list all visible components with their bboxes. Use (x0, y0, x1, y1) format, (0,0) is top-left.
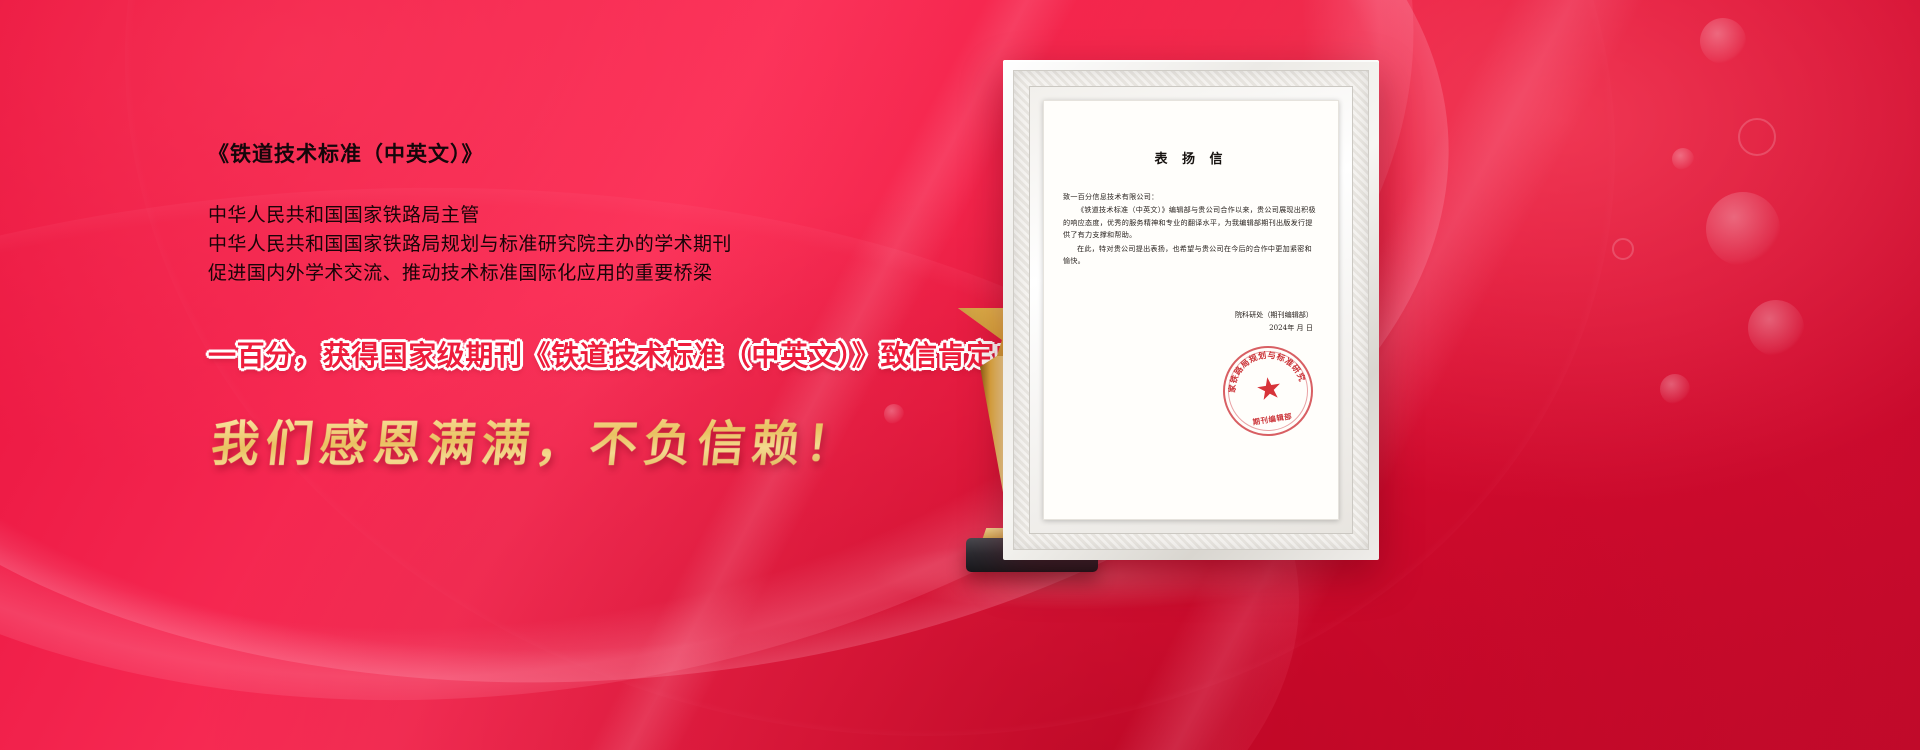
certificate-signature: 院科研处（期刊编辑部） 2024年 月 日 (1063, 309, 1319, 334)
certificate-paragraph-2: 在此，特对贵公司提出表扬，也希望与贵公司在今后的合作中更加紧密和愉快。 (1063, 243, 1319, 268)
signature-organization: 院科研处（期刊编辑部） (1063, 309, 1313, 322)
certificate-salutation: 致一百分信息技术有限公司： (1063, 191, 1319, 203)
journal-title: 《铁道技术标准（中英文）》 (208, 142, 1028, 167)
left-text-block: 《铁道技术标准（中英文）》 中华人民共和国国家铁路局主管 中华人民共和国国家铁路… (208, 142, 1028, 288)
journal-subtitle-line-2: 中华人民共和国国家铁路局规划与标准研究院主办的学术期刊 (208, 230, 1028, 259)
certificate-body: 致一百分信息技术有限公司： 《铁道技术标准（中英文）》编辑部与贵公司合作以来，贵… (1063, 191, 1319, 267)
gratitude-calligraphy: 我们感恩满满，不负信赖！ (208, 404, 863, 474)
journal-subtitle-line-1: 中华人民共和国国家铁路局主管 (208, 201, 1028, 230)
journal-subtitle-list: 中华人民共和国国家铁路局主管 中华人民共和国国家铁路局规划与标准研究院主办的学术… (208, 201, 1028, 288)
promo-banner: 《铁道技术标准（中英文）》 中华人民共和国国家铁路局主管 中华人民共和国国家铁路… (0, 0, 1920, 750)
certificate-content: 表 扬 信 致一百分信息技术有限公司： 《铁道技术标准（中英文）》编辑部与贵公司… (1043, 100, 1339, 520)
seal-inner-text: 期刊编辑部 (1252, 412, 1293, 427)
official-seal-stamp: 国家铁路局规划与标准研究院 期刊编辑部 ★ (1217, 340, 1320, 443)
signature-date: 2024年 月 日 (1063, 322, 1313, 335)
certificate-paper: 表 扬 信 致一百分信息技术有限公司： 《铁道技术标准（中英文）》编辑部与贵公司… (1043, 100, 1339, 520)
certificate-paragraph-1: 《铁道技术标准（中英文）》编辑部与贵公司合作以来，贵公司展现出积极的响应态度，优… (1063, 204, 1319, 241)
certificate-title: 表 扬 信 (1063, 148, 1319, 167)
award-headline: 一百分，获得国家级期刊《铁道技术标准（中英文）》致信肯定! (208, 334, 1005, 374)
certificate-photo-frame: 表 扬 信 致一百分信息技术有限公司： 《铁道技术标准（中英文）》编辑部与贵公司… (1003, 60, 1379, 560)
journal-subtitle-line-3: 促进国内外学术交流、推动技术标准国际化应用的重要桥梁 (208, 259, 1028, 288)
